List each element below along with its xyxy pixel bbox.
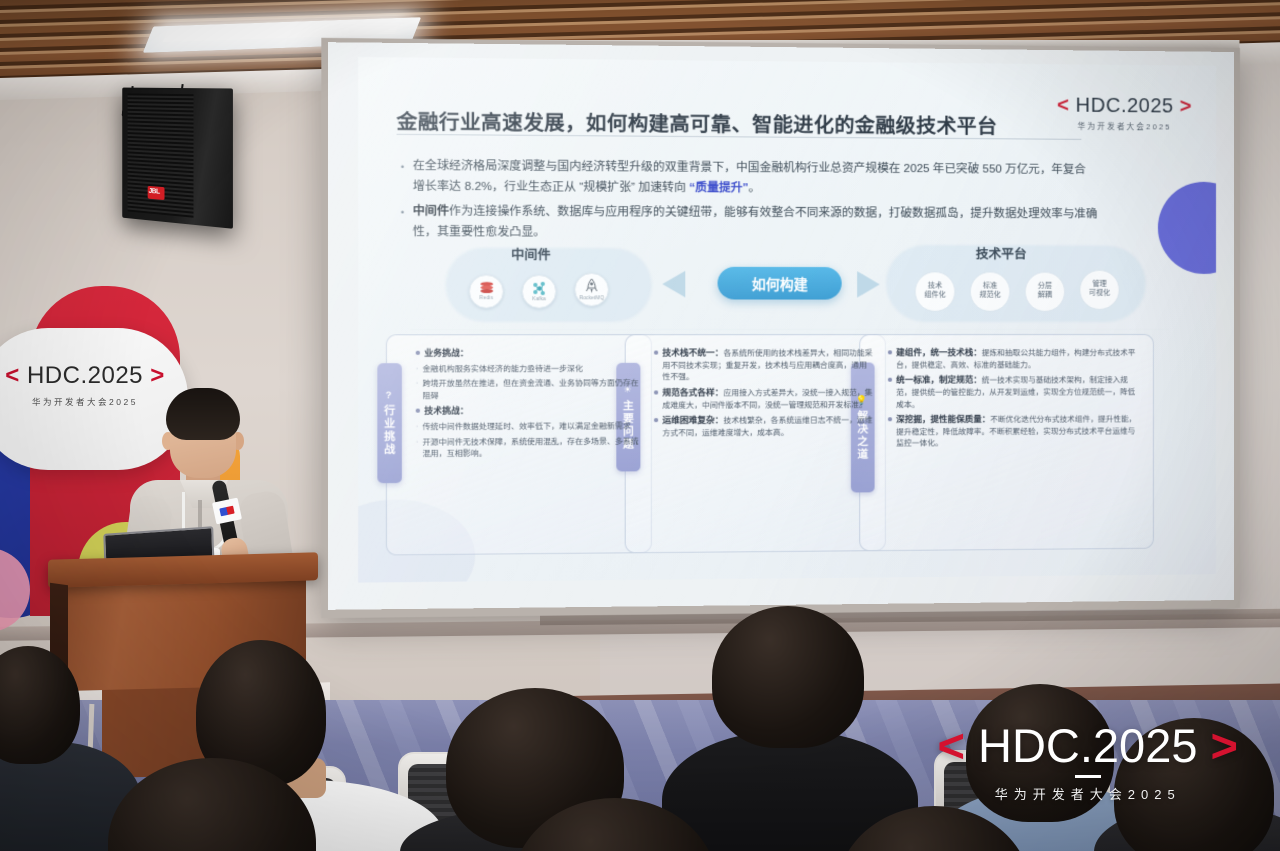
highlight-text: “质量提升” xyxy=(689,182,748,195)
bullet-dot-icon xyxy=(888,350,892,354)
chevron-right-icon: > xyxy=(150,362,165,389)
slide-hdc-logo: < HDC.2025 > 华为开发者大会2025 xyxy=(1057,94,1192,132)
column-body-3: 建组件，统一技术栈：提炼和抽取公共能力组件，构建分布式技术平台，提供稳定、高效、… xyxy=(888,346,1142,453)
watermark-sub: 华为开发者大会2025 xyxy=(938,784,1238,803)
rocketmq-chip: RocketMQ xyxy=(574,273,609,307)
arrow-right-icon xyxy=(857,271,880,297)
slide-logo-sub: 华为开发者大会2025 xyxy=(1057,121,1192,133)
bullet-item: • 在全球经济格局深度调整与国内经济转型升级的双重背景下，中国金融机构行业总资产… xyxy=(401,157,1182,201)
bullet-dot-icon xyxy=(654,351,658,355)
slide-content: < HDC.2025 > 华为开发者大会2025 金融行业高速发展，如何构建高可… xyxy=(358,57,1216,583)
bullet-marker: • xyxy=(401,202,404,243)
sub-dot-icon: · xyxy=(416,363,418,375)
list-item: 深挖掘，提性能保质量：不断优化迭代分布式技术组件，提升性能，提升稳定性，降低故障… xyxy=(888,412,1142,449)
platform-chip-2: 标准 规范化 xyxy=(970,271,1011,311)
projection-screen: < HDC.2025 > 华为开发者大会2025 金融行业高速发展，如何构建高可… xyxy=(328,42,1234,610)
kafka-label: Kafka xyxy=(532,296,545,302)
question-icon: ? xyxy=(386,390,394,400)
bullet-dot-icon xyxy=(654,418,658,422)
middleware-platform-diagram: 中间件 技术平台 Redis xyxy=(397,241,1182,330)
watermark-dash xyxy=(1075,775,1101,778)
platform-chip-4: 管理 可视化 xyxy=(1079,270,1119,310)
list-item: ·传统中间件数据处理延时、效率低下，难以满足金融新需求 xyxy=(416,420,640,433)
sub-dot-icon: · xyxy=(416,378,418,402)
redis-chip: Redis xyxy=(469,274,504,308)
kafka-chip: Kafka xyxy=(522,275,557,309)
audience-head xyxy=(712,606,864,748)
presentation-photo-scene: < HDC.2025 > 华为开发者大会2025 金融行业高速发展，如何构建高可… xyxy=(0,0,1280,851)
list-item: 建组件，统一技术栈：提炼和抽取公共能力组件，构建分布式技术平台，提供稳定、高效、… xyxy=(888,346,1142,371)
bullet-text: 在全球经济格局深度调整与国内经济转型升级的双重背景下，中国金融机构行业总资产规模… xyxy=(413,157,1086,201)
platform-chip-3: 分层 解耦 xyxy=(1025,272,1066,312)
chevron-left-icon: < xyxy=(938,719,965,772)
slide-columns: ? 行业挑战 ☀ 主要问题 💡 解决之道 业务挑战： ·金融机构服务实体经济的能… xyxy=(386,334,1194,564)
list-item: 规范各式各样：应用接入方式差异大，没统一接入规范，集成难度大，中间件版本不同，没… xyxy=(654,386,874,411)
column-body-1: 业务挑战： ·金融机构服务实体经济的能力亟待进一步深化 ·跨境开放虽然在推进，但… xyxy=(416,346,640,463)
center-pill-how-to-build: 如何构建 xyxy=(718,267,842,300)
chevron-left-icon: < xyxy=(5,362,20,389)
platform-chip-1: 技术 组件化 xyxy=(915,271,956,312)
bullet-dot-icon xyxy=(888,417,892,421)
bullet-dot-icon xyxy=(416,409,420,413)
slide-logo-main: < HDC.2025 > xyxy=(1057,94,1192,118)
list-item: 统一标准，制定规范：统一技术实现与基础技术架构，制定接入规范，提供统一的管控能力… xyxy=(888,373,1142,410)
list-item: 技术栈不统一：各系统所使用的技术栈差异大，相同功能采用不同技术实现；重复开发，技… xyxy=(654,346,874,383)
chevron-right-icon: > xyxy=(1180,96,1192,118)
bullet-marker: • xyxy=(401,157,404,198)
rocketmq-icon xyxy=(586,278,598,293)
list-item: ·金融机构服务实体经济的能力亟待进一步深化 xyxy=(416,363,640,375)
standee-logo-main: < HDC.2025 > xyxy=(0,362,180,390)
jbl-logo xyxy=(148,186,165,200)
jbl-speaker xyxy=(122,88,233,229)
bullet-dot-icon xyxy=(416,351,420,355)
diagram-right-label: 技术平台 xyxy=(976,243,1027,262)
column-body-2: 技术栈不统一：各系统所使用的技术栈差异大，相同功能采用不同技术实现；重复开发，技… xyxy=(654,346,874,442)
bullet-dot-icon xyxy=(888,378,892,382)
list-item: ·跨境开放虽然在推进，但在资金流通、业务协同等方面仍存在阻碍 xyxy=(416,377,640,401)
slide-bullets: • 在全球经济格局深度调整与国内经济转型升级的双重背景下，中国金融机构行业总资产… xyxy=(401,157,1182,251)
bullet-text: 中间件作为连接操作系统、数据库与应用程序的关键纽带，能够有效整合不同来源的数据，… xyxy=(413,202,1098,245)
watermark-main: < HDC.2025 > xyxy=(938,718,1238,773)
diagram-left-label: 中间件 xyxy=(511,244,551,264)
presenter-hair xyxy=(166,388,240,440)
chevron-left-icon: < xyxy=(1057,94,1069,116)
sub-dot-icon: · xyxy=(416,421,418,433)
kafka-icon xyxy=(532,281,547,294)
list-item: 运维困难复杂：技术栈繁杂，各系统运维日志不统一，运维方式不同，运维难度增大，成本… xyxy=(654,413,874,439)
arrow-left-icon xyxy=(662,271,685,298)
bullet-bold-lead: 中间件 xyxy=(413,205,449,218)
chevron-right-icon: > xyxy=(1211,719,1238,772)
redis-label: Redis xyxy=(479,295,493,301)
list-item: ·开源中间件无技术保障，系统使用混乱，存在多场景、多系统混用，互相影响。 xyxy=(416,435,640,460)
list-item: 技术挑战： xyxy=(416,404,640,418)
list-item: 业务挑战： xyxy=(416,346,640,359)
sub-dot-icon: · xyxy=(416,436,418,460)
hdc-watermark: < HDC.2025 > 华为开发者大会2025 xyxy=(938,718,1238,803)
column-tab-industry-challenges: ? 行业挑战 xyxy=(377,363,402,483)
bullet-item: • 中间件作为连接操作系统、数据库与应用程序的关键纽带，能够有效整合不同来源的数… xyxy=(401,202,1182,245)
rocketmq-label: RocketMQ xyxy=(579,295,604,301)
audience-head xyxy=(0,646,80,764)
redis-icon xyxy=(479,282,494,294)
bullet-dot-icon xyxy=(654,390,658,394)
